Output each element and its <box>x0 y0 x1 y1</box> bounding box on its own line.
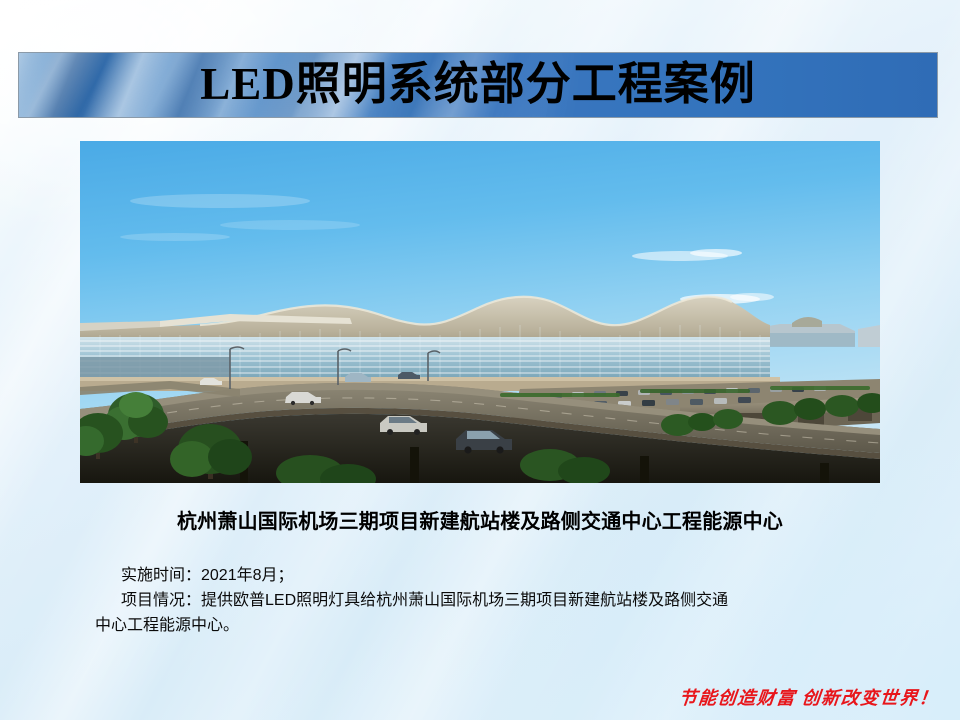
slide-canvas: LED照明系统部分工程案例 <box>0 0 960 720</box>
footer-slogan: 节能创造财富 创新改变世界！ <box>677 684 939 710</box>
project-photo <box>80 141 880 483</box>
airport-terminal-rendering-icon <box>80 141 880 483</box>
description-line-project-situation: 项目情况：提供欧普LED照明灯具给杭州萧山国际机场三期项目新建航站楼及路侧交通 <box>95 588 885 613</box>
project-description: 实施时间：2021年8月； 项目情况：提供欧普LED照明灯具给杭州萧山国际机场三… <box>95 563 885 638</box>
description-line-implementation-time: 实施时间：2021年8月； <box>95 563 885 588</box>
photo-caption: 杭州萧山国际机场三期项目新建航站楼及路侧交通中心工程能源中心 <box>80 505 880 534</box>
page-title: LED照明系统部分工程案例 <box>200 62 756 107</box>
description-line-continuation: 中心工程能源中心。 <box>95 613 885 638</box>
title-banner: LED照明系统部分工程案例 <box>18 52 938 118</box>
